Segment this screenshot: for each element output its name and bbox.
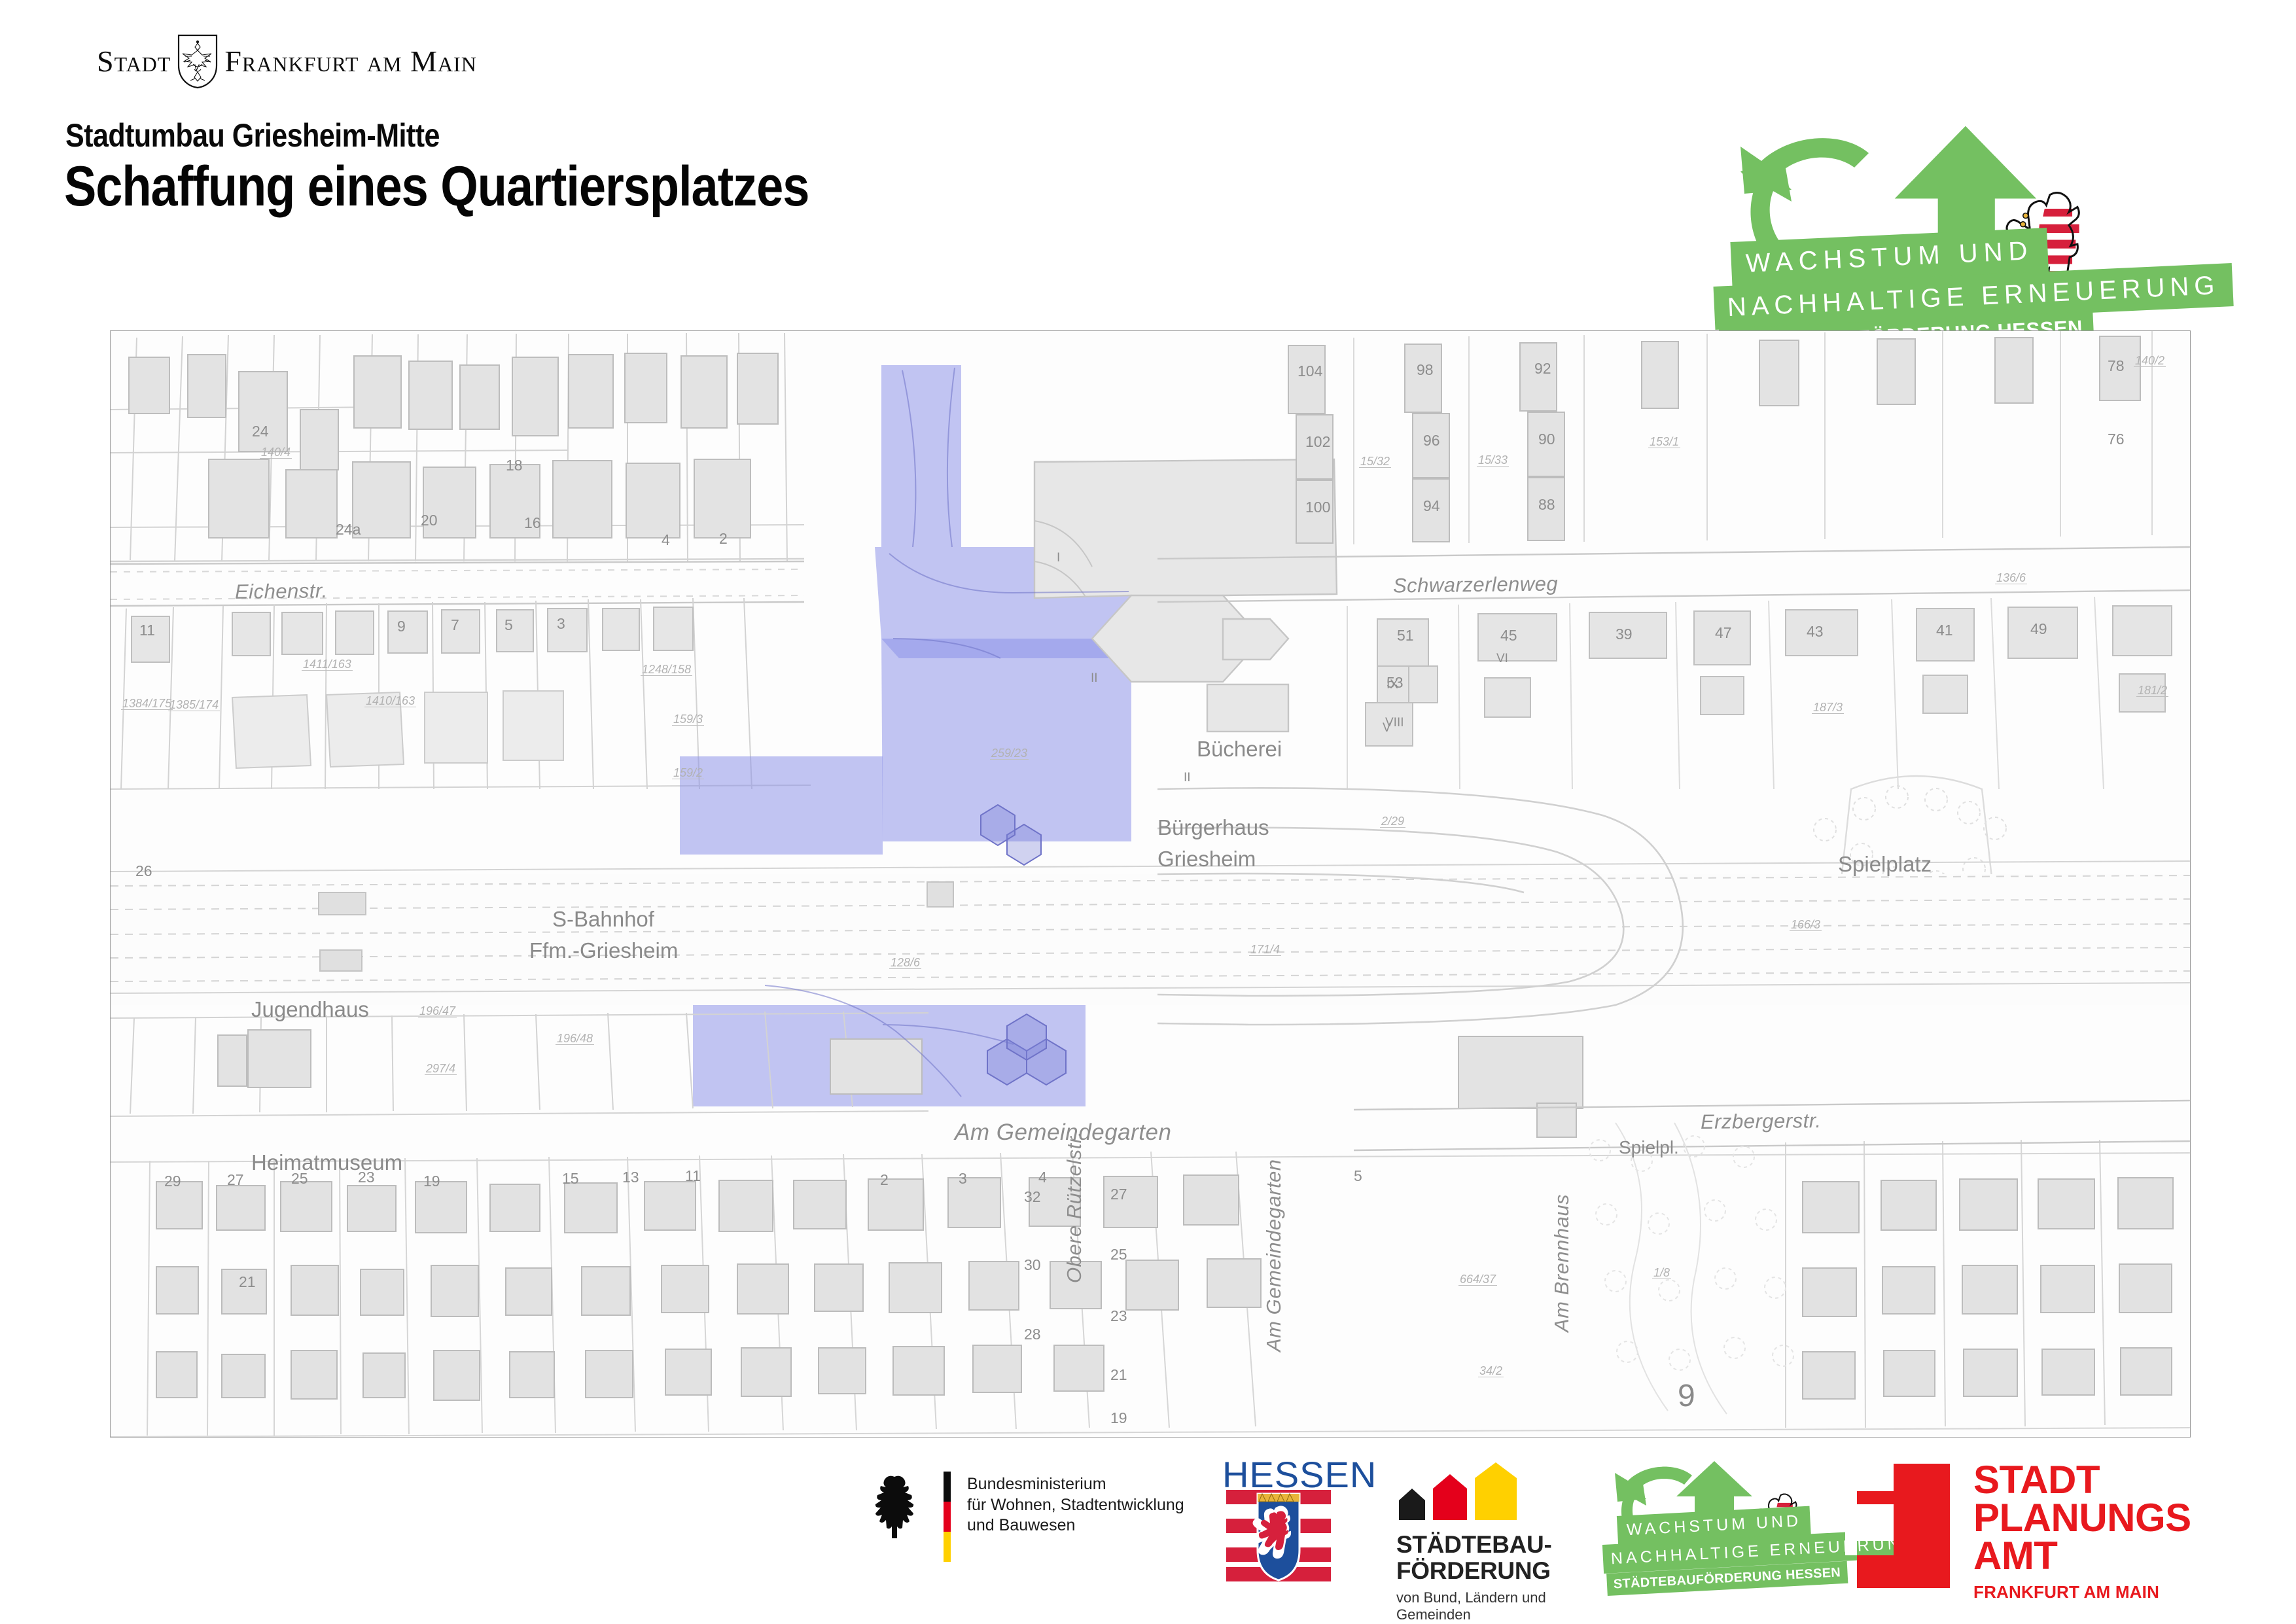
- poi-label-jugendhaus: Jugendhaus: [251, 997, 369, 1022]
- house-number: 92: [1534, 360, 1551, 378]
- parcel-fraction: 1385/174: [168, 699, 220, 711]
- house-number: 41: [1936, 622, 1953, 639]
- house-number: 76: [2108, 431, 2125, 448]
- floor-mark: V: [1383, 721, 1391, 735]
- house-number: 104: [1298, 362, 1322, 380]
- house-number: 28: [1024, 1326, 1041, 1343]
- parcel-fraction-num: 196/47: [418, 1005, 457, 1017]
- house-number: 88: [1538, 496, 1555, 514]
- house-number: 5: [504, 616, 513, 634]
- staedtebau-sub1: von Bund, Ländern und: [1396, 1589, 1551, 1606]
- bmwsb-line3: und Bauwesen: [967, 1515, 1184, 1536]
- house-number: 47: [1715, 624, 1732, 642]
- house-number: 25: [291, 1170, 308, 1188]
- poi-label-buergerhaus-griesheim: Griesheim: [1157, 847, 1256, 872]
- city-logo-word-frankfurt: Frankfurt am Main: [224, 46, 476, 77]
- parcel-fraction: 15/32: [1359, 455, 1391, 468]
- parcel-fraction-num: 140/2: [2134, 355, 2166, 367]
- parcel-fraction-num: 159/3: [672, 713, 704, 726]
- house-number: 4: [1038, 1169, 1047, 1186]
- house-number: 78: [2108, 357, 2125, 375]
- hessen-state-crest-icon: [1226, 1490, 1331, 1581]
- parcel-fraction: 153/1: [1648, 436, 1680, 448]
- house-number: 2: [719, 530, 728, 548]
- house-number: 21: [1110, 1366, 1127, 1384]
- house-number: 23: [358, 1169, 375, 1186]
- staedtebau-sub2: Gemeinden: [1396, 1606, 1551, 1623]
- stadtplanungsamt-logo: STADT PLANUNGS AMT FRANKFURT AM MAIN: [1845, 1461, 2185, 1598]
- house-number: 27: [1110, 1186, 1127, 1203]
- parcel-fraction-num: 15/33: [1477, 454, 1509, 467]
- parcel-fraction: 2/29: [1380, 815, 1405, 828]
- house-number: 11: [139, 622, 155, 639]
- city-logo-word-stadt: Stadt: [97, 46, 171, 77]
- house-number: 9: [397, 618, 406, 635]
- house-number: 26: [135, 862, 152, 880]
- parcel-fraction: 196/47: [418, 1005, 457, 1017]
- parcel-fraction: 1/8: [1652, 1267, 1671, 1279]
- parcel-fraction-num: 1/8: [1652, 1267, 1671, 1279]
- parcel-fraction: 259/23: [990, 747, 1029, 760]
- staedtebau-title1: STÄDTEBAU-: [1396, 1532, 1551, 1558]
- bmwsb-line1: Bundesministerium: [967, 1474, 1184, 1495]
- parcel-fraction: 159/3: [672, 713, 704, 726]
- parcel-fraction-num: 128/6: [889, 957, 921, 969]
- house-number: 2: [880, 1171, 889, 1189]
- parcel-fraction: 1384/175: [121, 697, 173, 710]
- map-vector-layer: [111, 331, 2190, 1437]
- parcel-fraction-num: 1248/158: [641, 663, 692, 676]
- poi-label-spielplatz: Spielplatz: [1838, 852, 1932, 877]
- parcel-fraction: 1248/158: [641, 663, 692, 676]
- house-number: 43: [1807, 623, 1824, 641]
- parcel-fraction-num: 1384/175: [121, 697, 173, 710]
- poi-label-spielpl: Spielpl.: [1619, 1137, 1679, 1158]
- parcel-fraction-num: 140/4: [260, 446, 292, 459]
- cadastral-map[interactable]: Eichenstr. Schwarzerlenweg Erzbergerstr.…: [110, 330, 2191, 1438]
- house-number: 32: [1024, 1188, 1041, 1206]
- stadtplanungsamt-line3: AMT: [1973, 1537, 2191, 1575]
- house-number: 30: [1024, 1256, 1041, 1274]
- parcel-fraction: 140/2: [2134, 355, 2166, 367]
- bmwsb-line2: für Wohnen, Stadtentwicklung: [967, 1495, 1184, 1516]
- house-number: 102: [1305, 433, 1330, 451]
- house-number: 19: [423, 1173, 440, 1190]
- three-houses-icon: [1396, 1462, 1527, 1525]
- street-label-schwarzerlenweg: Schwarzerlenweg: [1393, 572, 1559, 597]
- house-number: 90: [1538, 431, 1555, 448]
- staedtebau-title2: FÖRDERUNG: [1396, 1558, 1551, 1584]
- house-number: 100: [1305, 499, 1330, 516]
- parcel-fraction-num: 196/48: [556, 1033, 594, 1045]
- street-label-erzbergerstr: Erzbergerstr.: [1701, 1109, 1822, 1134]
- parcel-fraction: 181/2: [2136, 684, 2168, 697]
- poi-label-buecherei: Bücherei: [1197, 737, 1282, 762]
- page-title: Schaffung eines Quartiersplatzes: [64, 154, 809, 219]
- page-header: Stadt Frankfurt am Main Stadtumbau Gries…: [0, 0, 2296, 327]
- parcel-fraction-num: 15/32: [1359, 455, 1391, 468]
- house-number: 11: [685, 1167, 701, 1185]
- parcel-fraction: 187/3: [1812, 701, 1844, 714]
- floor-mark: II: [1184, 771, 1191, 785]
- house-number: 20: [421, 512, 438, 529]
- parcel-fraction-num: 153/1: [1648, 436, 1680, 448]
- house-number: 15: [562, 1170, 579, 1188]
- house-number: 29: [164, 1173, 181, 1190]
- house-number: 13: [622, 1169, 639, 1186]
- parcel-fraction: 1410/163: [364, 695, 416, 707]
- house-number: 24: [252, 423, 269, 440]
- poi-label-buergerhaus: Bürgerhaus: [1157, 815, 1269, 840]
- house-number: 98: [1417, 361, 1434, 379]
- house-number: 25: [1110, 1246, 1127, 1263]
- poi-label-plot-9: 9: [1678, 1378, 1695, 1414]
- house-number: 16: [524, 514, 541, 532]
- parcel-fraction-num: 34/2: [1478, 1365, 1504, 1377]
- house-number: 45: [1500, 627, 1517, 644]
- german-flag-bar-icon: [944, 1472, 951, 1562]
- parcel-fraction-num: 166/3: [1790, 919, 1822, 931]
- parcel-fraction-num: 297/4: [425, 1063, 457, 1075]
- parcel-fraction-num: 1411/163: [302, 658, 353, 671]
- floor-mark: II: [1091, 671, 1098, 686]
- house-number: 3: [959, 1170, 967, 1188]
- page-footer: Bundesministerium für Wohnen, Stadtentwi…: [0, 1449, 2296, 1623]
- hessen-logo: HESSEN: [1222, 1453, 1340, 1584]
- house-number: 19: [1110, 1409, 1127, 1427]
- stadtplanungsamt-line2: PLANUNGS: [1973, 1499, 2191, 1537]
- parcel-fraction: 664/37: [1458, 1273, 1497, 1286]
- parcel-fraction-num: 1410/163: [364, 695, 416, 707]
- parcel-fraction-num: 181/2: [2136, 684, 2168, 697]
- parcel-fraction-num: 171/4: [1249, 944, 1281, 956]
- parcel-fraction: 15/33: [1477, 454, 1509, 467]
- stadtplanungsamt-line1: STADT: [1973, 1461, 2191, 1499]
- parcel-fraction: 159/2: [672, 767, 704, 779]
- frankfurt-eagle-crest-icon: [177, 34, 218, 89]
- parcel-fraction-num: 664/37: [1458, 1273, 1497, 1286]
- stadtplanungsamt-mark-icon: [1845, 1464, 1950, 1588]
- stadtplanungsamt-sub: FRANKFURT AM MAIN: [1973, 1582, 2191, 1602]
- parcel-fraction: 166/3: [1790, 919, 1822, 931]
- house-number: 96: [1423, 432, 1440, 450]
- parcel-fraction-num: 187/3: [1812, 701, 1844, 714]
- street-label-obere-ruetzelstr: Obere Rützelstr.: [1063, 1131, 1086, 1283]
- parcel-fraction-num: 1385/174: [168, 699, 220, 711]
- house-number: 18: [506, 457, 523, 474]
- floor-mark: VI: [1496, 652, 1508, 666]
- house-number: 4: [662, 531, 670, 549]
- poi-label-sbahnhof: S-Bahnhof: [552, 907, 654, 932]
- house-number: 49: [2030, 620, 2047, 638]
- house-number: 7: [451, 616, 459, 634]
- staedtebaufoerderung-logo: STÄDTEBAU- FÖRDERUNG von Bund, Ländern u…: [1391, 1458, 1600, 1599]
- floor-mark: IX: [1386, 678, 1398, 692]
- house-number: 23: [1110, 1307, 1127, 1325]
- city-logo: Stadt Frankfurt am Main: [97, 34, 477, 89]
- parcel-fraction-num: 2/29: [1380, 815, 1405, 828]
- parcel-fraction: 140/4: [260, 446, 292, 459]
- parcel-fraction: 136/6: [1995, 572, 2027, 584]
- house-number: 21: [239, 1273, 256, 1291]
- poi-label-sbahnhof-griesheim: Ffm.-Griesheim: [529, 938, 678, 963]
- poi-label-heimatmuseum: Heimatmuseum: [251, 1150, 402, 1175]
- bundesadler-icon: [870, 1473, 919, 1541]
- parcel-fraction: 128/6: [889, 957, 921, 969]
- house-number: 27: [227, 1171, 244, 1189]
- bmwsb-logo: Bundesministerium für Wohnen, Stadtentwi…: [870, 1462, 1191, 1574]
- parcel-fraction: 297/4: [425, 1063, 457, 1075]
- parcel-fraction-num: 136/6: [1995, 572, 2027, 584]
- street-label-eichenstr: Eichenstr.: [235, 579, 328, 604]
- house-number: 24a: [336, 521, 361, 538]
- floor-mark: I: [1057, 551, 1060, 565]
- parcel-fraction-num: 259/23: [990, 747, 1029, 760]
- street-label-am-brennhaus: Am Brennhaus: [1550, 1194, 1574, 1332]
- parcel-fraction: 171/4: [1249, 944, 1281, 956]
- house-number: 3: [557, 615, 565, 633]
- parcel-fraction: 34/2: [1478, 1365, 1504, 1377]
- house-number: 5: [1354, 1167, 1362, 1185]
- parcel-fraction: 1411/163: [302, 658, 353, 671]
- wachstum-mini-logo: WACHSTUM UND NACHHALTIGE ERNEUERUNG STÄD…: [1603, 1458, 1819, 1602]
- house-number: 39: [1616, 626, 1633, 643]
- house-number: 51: [1397, 627, 1414, 644]
- parcel-fraction: 196/48: [556, 1033, 594, 1045]
- house-number: 94: [1423, 497, 1440, 515]
- parcel-fraction-num: 159/2: [672, 767, 704, 779]
- page-subtitle: Stadtumbau Griesheim-Mitte: [65, 116, 440, 154]
- street-label-am-gemeindegarten-v: Am Gemeindegarten: [1262, 1159, 1286, 1352]
